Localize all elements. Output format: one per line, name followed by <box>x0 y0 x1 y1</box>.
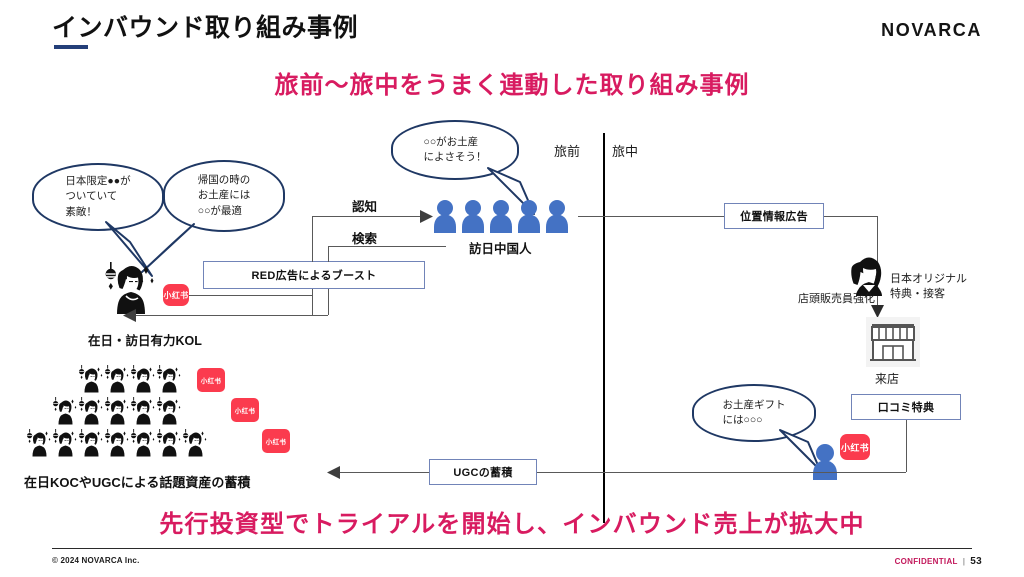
original-perk-label: 日本オリジナル 特典・接客 <box>890 272 967 303</box>
kol-label: 在日・訪日有力KOL <box>88 330 202 349</box>
red-return-vertical-a <box>312 289 313 315</box>
red-badge-connector <box>189 295 312 296</box>
speech-bubble-tourist-text: ○○がお土産 によさそう！ <box>424 135 487 165</box>
xiaohongshu-badge-koc-2: 小红书 <box>231 398 259 422</box>
location-ad-box[interactable]: 位置情報広告 <box>724 203 824 229</box>
tourist-group-icon <box>432 199 574 235</box>
copyright-text: © 2024 NOVARCA Inc. <box>52 556 140 565</box>
tourist-to-location-ad-line <box>578 216 724 217</box>
red-return-horizontal <box>128 315 328 316</box>
slide-canvas: インバウンド取り組み事例 NOVARCA 旅前〜旅中をうまく連動した取り組み事例… <box>0 0 1024 577</box>
bottom-banner: 先行投資型でトライアルを開始し、インバウンド売上が拡大中 <box>0 504 1024 539</box>
awareness-connector-vertical <box>312 216 313 262</box>
ugc-flow-line <box>332 472 906 473</box>
store-visit-label: 来店 <box>875 370 899 387</box>
koc-label: 在日KOCやUGCによる話題資産の蓄積 <box>24 472 250 491</box>
phase-label-during: 旅中 <box>612 141 638 160</box>
review-bonus-down-line <box>906 420 907 472</box>
xiaohongshu-badge-souvenir: 小红书 <box>840 434 870 460</box>
kol-person-icon <box>102 258 160 314</box>
slide-subtitle: 旅前〜旅中をうまく連動した取り組み事例 <box>0 65 1024 100</box>
novarca-logo: NOVARCA <box>881 20 982 41</box>
ugc-flow-arrowhead <box>326 466 340 479</box>
confidential-label: CONFIDENTIAL <box>895 557 958 566</box>
search-connector-vertical <box>328 246 329 262</box>
awareness-connector-horizontal <box>312 216 426 217</box>
speech-bubble-kol-right-text: 帰国の時の お土産には ○○が最適 <box>198 173 251 219</box>
store-icon <box>866 317 920 367</box>
ugc-accumulation-box[interactable]: UGCの蓄積 <box>429 459 537 485</box>
footer-meta: CONFIDENTIAL|53 <box>895 556 982 567</box>
xiaohongshu-badge-koc-3: 小红书 <box>262 429 290 453</box>
footer-divider <box>52 548 972 549</box>
search-label: 検索 <box>352 228 377 247</box>
xiaohongshu-badge-koc-1: 小红书 <box>197 368 225 392</box>
location-ad-out-line <box>824 216 877 217</box>
awareness-label: 認知 <box>352 196 377 215</box>
xiaohongshu-badge-kol: 小红书 <box>163 284 189 306</box>
search-connector-horizontal <box>328 246 446 247</box>
red-ad-boost-box[interactable]: RED広告によるブースト <box>203 261 425 289</box>
title-accent-rule <box>54 45 88 49</box>
red-return-arrowhead <box>122 309 136 322</box>
page-number: 53 <box>970 556 982 567</box>
sales-staff-icon <box>848 252 890 296</box>
speech-bubble-souvenir-text: お土産ギフト には○○○ <box>723 398 786 428</box>
souvenir-person-icon <box>810 444 840 480</box>
sales-staff-label: 店頭販売員強化 <box>798 292 875 307</box>
tourists-label: 訪日中国人 <box>469 238 532 257</box>
review-bonus-box[interactable]: 口コミ特典 <box>851 394 961 420</box>
page-title: インバウンド取り組み事例 <box>52 8 358 44</box>
red-return-vertical-b <box>328 289 329 315</box>
footer-separator: | <box>963 557 966 566</box>
phase-label-before: 旅前 <box>554 141 580 160</box>
phase-divider-line <box>603 133 605 523</box>
speech-bubble-kol-left-text: 日本限定●●が ついていて 素敵！ <box>65 174 130 220</box>
